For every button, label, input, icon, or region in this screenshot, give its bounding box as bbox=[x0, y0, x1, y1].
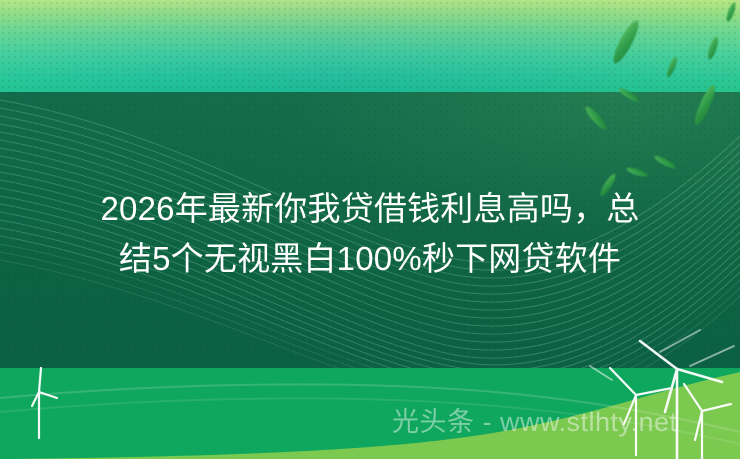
poster-title: 2026年最新你我贷借钱利息高吗，总 结5个无视黑白100%秒下网贷软件 bbox=[0, 184, 740, 284]
watermark-text: 光头条 - www.stlhty.net bbox=[392, 405, 678, 439]
title-line-2: 结5个无视黑白100%秒下网贷软件 bbox=[0, 234, 740, 284]
title-line-1: 2026年最新你我贷借钱利息高吗，总 bbox=[0, 184, 740, 234]
poster-image: 2026年最新你我贷借钱利息高吗，总 结5个无视黑白100%秒下网贷软件 光头条… bbox=[0, 0, 740, 459]
